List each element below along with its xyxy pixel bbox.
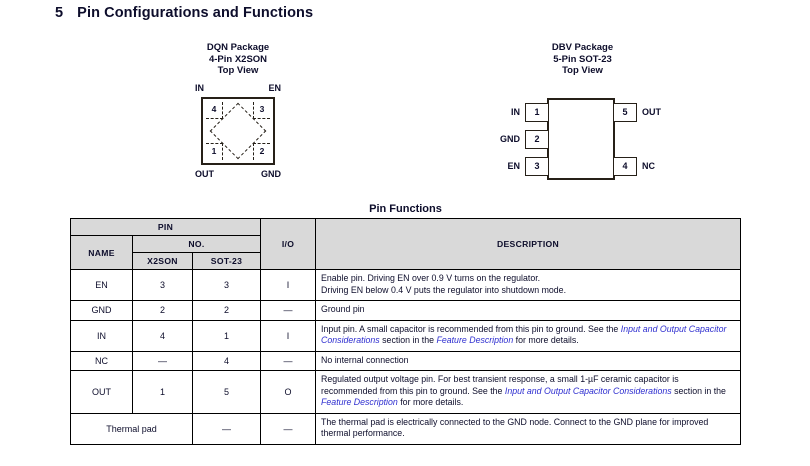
header-x2son: X2SON: [133, 253, 193, 270]
cell-name: IN: [71, 320, 133, 351]
dbv-pin-3: 3: [525, 157, 549, 176]
section-title-text: Pin Configurations and Functions: [77, 5, 313, 21]
link-input-output-capacitor-considerations[interactable]: Input and Output Capacitor Consideration…: [505, 386, 672, 396]
dqn-pad-3: 3: [253, 102, 270, 119]
cell-sot23: 2: [193, 301, 261, 321]
dqn-label-en: EN: [268, 83, 281, 93]
table-row: EN 3 3 I Enable pin. Driving EN over 0.9…: [71, 270, 741, 301]
link-feature-description[interactable]: Feature Description: [321, 397, 398, 407]
cell-io: —: [261, 301, 316, 321]
desc-text: for more details.: [398, 397, 464, 407]
dbv-pin-5: 5: [613, 103, 637, 122]
table-row: Thermal pad — — The thermal pad is elect…: [71, 413, 741, 444]
header-description: DESCRIPTION: [316, 219, 741, 270]
header-name: NAME: [71, 236, 133, 270]
header-io: I/O: [261, 219, 316, 270]
cell-io: O: [261, 371, 316, 414]
cell-description: Enable pin. Driving EN over 0.9 V turns …: [316, 270, 741, 301]
cell-description: No internal connection: [316, 351, 741, 371]
cell-name: NC: [71, 351, 133, 371]
header-sot23: SOT-23: [193, 253, 261, 270]
dqn-label-in: IN: [195, 83, 204, 93]
page-title: 5Pin Configurations and Functions: [55, 5, 313, 21]
dqn-package-body: 4 3 1 2: [201, 97, 275, 165]
cell-io: I: [261, 270, 316, 301]
dbv-label-out: OUT: [642, 103, 682, 122]
dbv-label-in: IN: [480, 103, 520, 122]
cell-name: Thermal pad: [71, 413, 193, 444]
table-row: IN 4 1 I Input pin. A small capacitor is…: [71, 320, 741, 351]
link-feature-description[interactable]: Feature Description: [436, 335, 513, 345]
header-no: NO.: [133, 236, 261, 253]
table-header-row-1: PIN I/O DESCRIPTION: [71, 219, 741, 236]
pin-functions-title: Pin Functions: [70, 203, 741, 215]
cell-sot23: —: [193, 413, 261, 444]
dbv-label-nc: NC: [642, 157, 682, 176]
desc-line-2: Driving EN below 0.4 V puts the regulato…: [321, 285, 566, 295]
section-number: 5: [55, 5, 63, 21]
cell-sot23: 1: [193, 320, 261, 351]
dqn-pad-1: 1: [206, 143, 223, 160]
table-row: NC — 4 — No internal connection: [71, 351, 741, 371]
cell-sot23: 3: [193, 270, 261, 301]
dqn-pad-4: 4: [206, 102, 223, 119]
cell-x2son: 3: [133, 270, 193, 301]
dbv-pin-1: 1: [525, 103, 549, 122]
dqn-package-diagram: IN EN 4 3 1 2 OUT GND: [183, 42, 293, 187]
cell-x2son: —: [133, 351, 193, 371]
cell-description: Input pin. A small capacitor is recommen…: [316, 320, 741, 351]
desc-line-1: Enable pin. Driving EN over 0.9 V turns …: [321, 273, 540, 283]
dqn-top-labels: IN EN: [183, 83, 293, 93]
cell-io: —: [261, 351, 316, 371]
cell-description: Ground pin: [316, 301, 741, 321]
dbv-label-gnd: GND: [480, 130, 520, 149]
cell-name: GND: [71, 301, 133, 321]
desc-text: section in the: [672, 386, 726, 396]
dbv-label-en: EN: [480, 157, 520, 176]
pin-functions-table: PIN I/O DESCRIPTION NAME NO. X2SON SOT-2…: [70, 218, 741, 445]
table-row: OUT 1 5 O Regulated output voltage pin. …: [71, 371, 741, 414]
cell-io: I: [261, 320, 316, 351]
cell-x2son: 1: [133, 371, 193, 414]
desc-text: section in the: [380, 335, 437, 345]
dqn-label-gnd: GND: [261, 169, 281, 179]
desc-text: Input pin. A small capacitor is recommen…: [321, 324, 621, 334]
dbv-pin-4: 4: [613, 157, 637, 176]
cell-x2son: 4: [133, 320, 193, 351]
desc-text: for more details.: [513, 335, 579, 345]
header-pin: PIN: [71, 219, 261, 236]
dqn-bottom-labels: OUT GND: [183, 169, 293, 179]
cell-io: —: [261, 413, 316, 444]
cell-sot23: 5: [193, 371, 261, 414]
cell-name: EN: [71, 270, 133, 301]
table-row: GND 2 2 — Ground pin: [71, 301, 741, 321]
dbv-pin-2: 2: [525, 130, 549, 149]
dqn-label-out: OUT: [195, 169, 214, 179]
dbv-package-diagram: IN GND EN OUT NC 1 2 3 5 4: [495, 42, 670, 187]
cell-sot23: 4: [193, 351, 261, 371]
cell-description: The thermal pad is electrically connecte…: [316, 413, 741, 444]
cell-x2son: 2: [133, 301, 193, 321]
dbv-package-body: [547, 98, 615, 180]
cell-description: Regulated output voltage pin. For best t…: [316, 371, 741, 414]
cell-name: OUT: [71, 371, 133, 414]
dqn-pad-2: 2: [253, 143, 270, 160]
